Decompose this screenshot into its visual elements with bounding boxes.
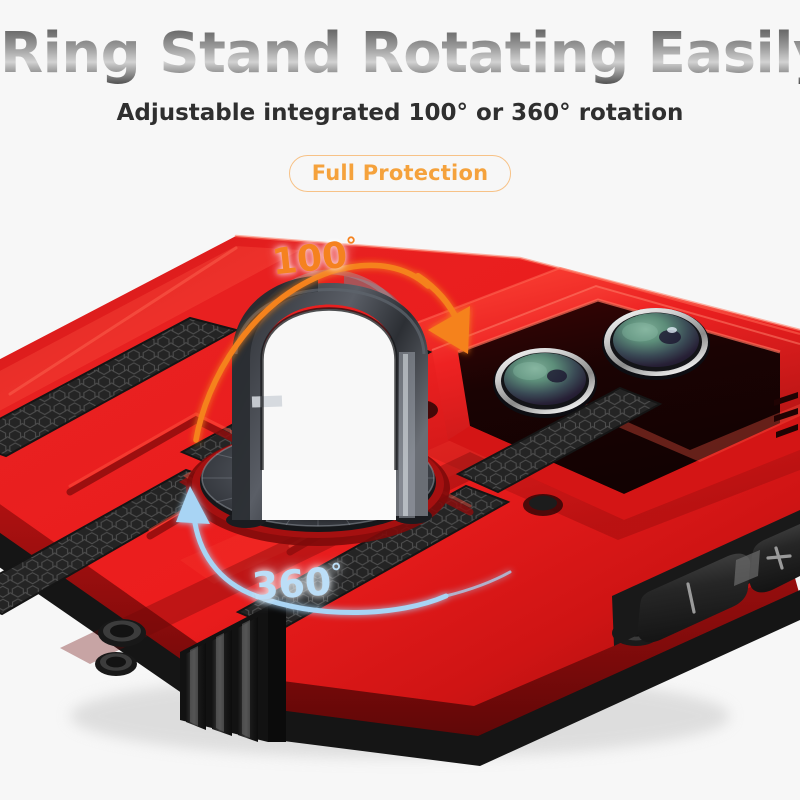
side-vent-slots [774, 392, 798, 438]
product-feature-image: Ring Stand Rotating Easily Adjustable in… [0, 0, 800, 800]
case-ports [95, 400, 660, 676]
tilt-angle-arrow [196, 265, 470, 440]
page-title: Ring Stand Rotating Easily [0, 20, 800, 88]
volume-down-button[interactable] [638, 554, 751, 643]
camera-lens-lower [493, 348, 597, 418]
armor-crease-lines [10, 236, 800, 552]
callout-tilt-degree: ° [345, 233, 359, 260]
badge-container: Full Protection [0, 155, 800, 192]
page-subtitle: Adjustable integrated 100° or 360° rotat… [0, 100, 800, 126]
ring-stand[interactable] [226, 272, 432, 528]
camera-module [432, 286, 800, 520]
callout-tilt-value: 100 [270, 235, 349, 284]
status-badge: Full Protection [289, 155, 511, 192]
callout-label-tilt: 100° [270, 233, 360, 284]
case-body [0, 236, 800, 766]
case-shadow [70, 674, 730, 758]
ring-stand-assembly[interactable] [186, 272, 450, 546]
bottom-vent-fins [180, 598, 286, 742]
callout-label-rotation: 360° [251, 558, 345, 609]
ring-base-disc[interactable] [200, 430, 436, 532]
volume-up-button[interactable] [750, 524, 800, 592]
side-buttons[interactable] [612, 510, 800, 646]
callout-rotation-value: 360 [251, 559, 333, 608]
callout-rotation-degree: ° [330, 558, 344, 587]
camera-lens-upper [602, 308, 710, 380]
